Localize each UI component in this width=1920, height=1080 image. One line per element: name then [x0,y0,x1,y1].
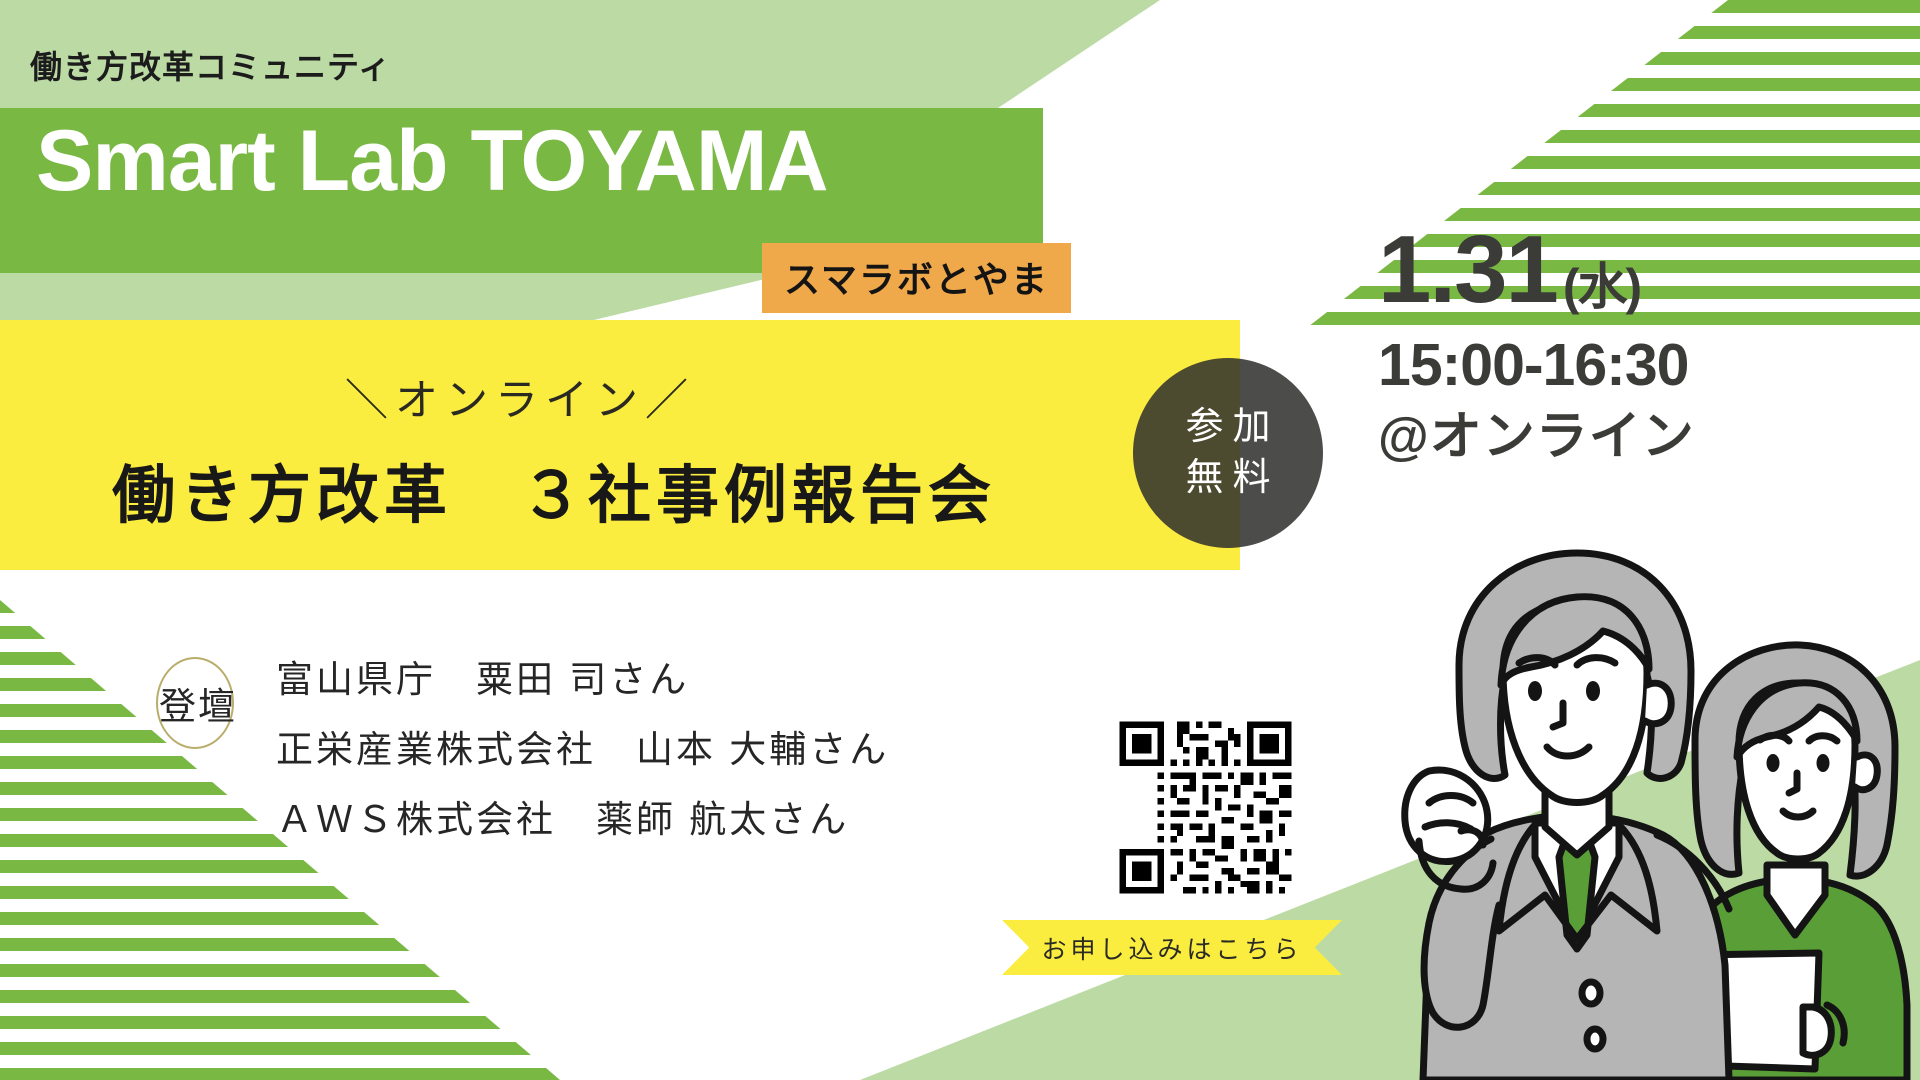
brand-title: Smart Lab TOYAMA [36,118,828,204]
qr-code-icon[interactable] [1113,715,1298,900]
apply-here-ribbon[interactable]: お申し込みはこちら [1002,920,1342,975]
community-label: 働き方改革コミュニティ [30,42,391,88]
free-badge-line2: 無料 [1176,453,1279,504]
list-item: 正栄産業株式会社 山本 大輔さん [276,731,889,768]
free-badge-line1: 参加 [1176,402,1279,453]
free-participation-badge: 参加 無料 [1133,358,1323,548]
poster-canvas: 働き方改革コミュニティ Smart Lab TOYAMA スマラボとやま ＼オン… [0,0,1920,1080]
event-place: @オンライン [1378,408,1695,468]
speakers-label: 登壇 [159,676,237,730]
event-main-title: 働き方改革 ３社事例報告会 [112,445,996,536]
event-date-row: 1.31 (水) [1378,222,1695,318]
schedule-block: 1.31 (水) 15:00-16:30 @オンライン [1378,222,1695,468]
event-date: 1.31 [1378,222,1557,318]
apply-here-label: お申し込みはこちら [1041,930,1302,966]
online-tag: ＼オンライン／ [345,366,695,428]
list-item: ＡＷＳ株式会社 薬師 航太さん [276,801,889,838]
event-time: 15:00-16:30 [1378,332,1695,400]
speakers-label-wrap: 登壇 [150,655,246,751]
decor-top-light-green-wedge [800,0,1160,108]
event-day-of-week: (水) [1563,262,1640,318]
list-item: 富山県庁 粟田 司さん [276,661,889,698]
brand-subtitle-badge: スマラボとやま [762,243,1071,313]
speakers-list: 富山県庁 粟田 司さん 正栄産業株式会社 山本 大輔さん ＡＷＳ株式会社 薬師 … [276,661,889,838]
two-business-people-illustration [1395,535,1920,1080]
